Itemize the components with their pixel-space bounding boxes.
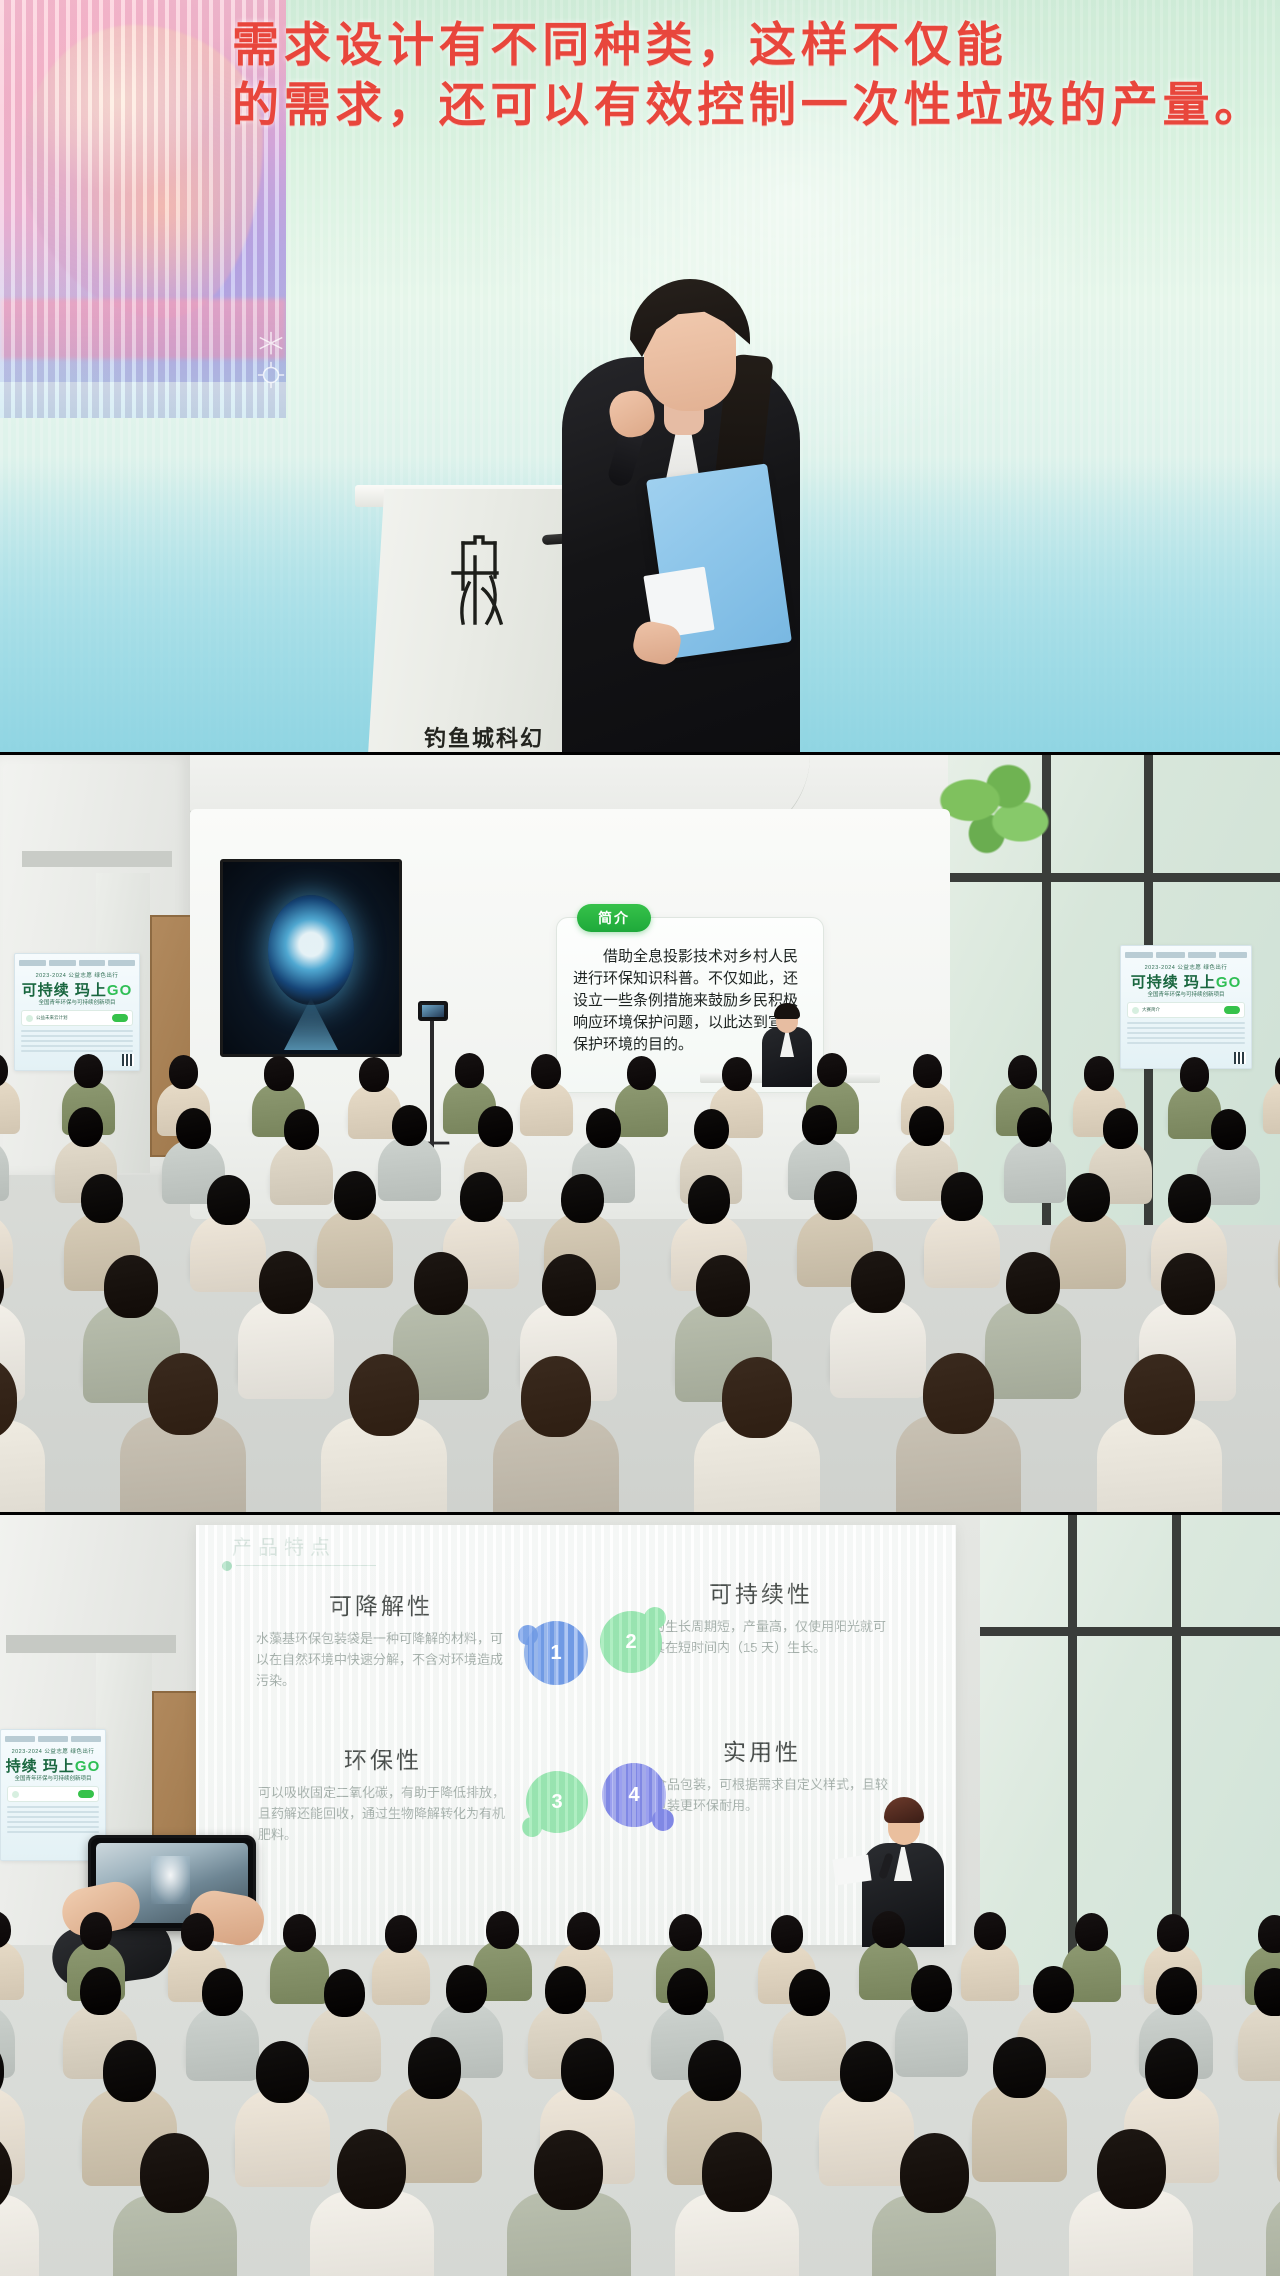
audience-member <box>1080 2129 1182 2276</box>
audience-head <box>851 1251 905 1313</box>
audience-head <box>722 1357 792 1438</box>
wall-slot <box>22 851 172 867</box>
audience-head <box>545 1966 586 2014</box>
audience-head <box>909 1106 944 1146</box>
bubble-satellite <box>522 1817 542 1837</box>
poster-kicker: 2023-2024 公益志愿 绿色出行 <box>15 971 139 979</box>
screen-headline-line-1: 需求设计有不同种类，这样不仅能 <box>232 6 1008 75</box>
audience-head <box>1008 1055 1038 1089</box>
audience-head <box>669 1914 702 1952</box>
audience-head <box>941 1172 984 1221</box>
phone-screen <box>422 1005 444 1017</box>
feature-body: 用于食品包装，可根据需求自定义样式，且较塑料包装更环保耐用。 <box>628 1774 896 1816</box>
bubble-number: 3 <box>551 1791 562 1814</box>
audience-head <box>446 1965 487 2013</box>
feature-body: 水藻的生长周期短，产量高，仅使用阳光就可以使其在短时间内（15 天）生长。 <box>626 1616 896 1658</box>
audience-head <box>385 1915 418 1953</box>
audience-head <box>140 2133 209 2213</box>
feature-title: 可持续性 <box>626 1575 896 1609</box>
audience-member <box>980 2037 1058 2163</box>
poster-title-accent: GO <box>75 1758 100 1775</box>
poster-logo <box>19 960 46 966</box>
audience-head <box>80 1967 121 2015</box>
poster-title-main: 可持续 玛上 <box>1131 974 1216 991</box>
poster-card-icon <box>26 1015 33 1022</box>
audience-member <box>321 2129 423 2276</box>
audience-head <box>0 1911 11 1949</box>
audience-head <box>696 1255 750 1317</box>
audience-head <box>586 1108 621 1148</box>
bubble-satellite <box>652 1809 674 1831</box>
audience-head <box>337 2129 406 2209</box>
audience-head <box>486 1911 519 1949</box>
slide-ghost-title: 产品特点 <box>232 1531 336 1560</box>
audience-head <box>1145 2038 1198 2100</box>
audience-member <box>518 2130 620 2276</box>
slide-badge: 简介 <box>577 904 651 932</box>
audience-member <box>324 1171 387 1272</box>
feature-title: 环保性 <box>258 1741 508 1775</box>
inset-band <box>0 299 286 359</box>
audience-head <box>900 2133 969 2213</box>
foliage <box>934 761 1054 859</box>
audience-head <box>531 1054 561 1088</box>
audience-head <box>1168 1174 1211 1223</box>
audience-head <box>817 1053 847 1087</box>
audience-member <box>1268 1053 1280 1123</box>
audience-head <box>1067 1173 1110 1222</box>
audience-head <box>283 1914 316 1952</box>
audience-head <box>872 1911 905 1949</box>
poster-card: 公益未来云计划 <box>21 1010 133 1026</box>
audience-head <box>1211 1109 1246 1149</box>
audience-member <box>0 1357 34 1515</box>
feature-bubble-2: 2 <box>600 1611 662 1673</box>
poster-logo <box>108 960 135 966</box>
audience-head <box>80 1912 113 1950</box>
poster-title: 持续 玛上GO <box>1 1755 105 1776</box>
audience-head <box>1006 1252 1060 1314</box>
feature-bubble-1: 1 <box>524 1621 588 1685</box>
audience-head <box>478 1106 513 1146</box>
poster-card-text: 大赛简介 <box>1142 1007 1221 1013</box>
audience-head <box>567 1912 600 1950</box>
audience-member <box>384 1105 436 1188</box>
poster-logo <box>1188 952 1216 958</box>
audience-shoulders <box>961 1941 1019 2001</box>
audience-member <box>243 2041 321 2167</box>
poster-toggle <box>78 1790 94 1798</box>
audience-head <box>627 1056 657 1090</box>
audience-head <box>1124 1354 1194 1435</box>
audience-head <box>359 1057 389 1091</box>
poster-logo-row <box>5 1734 101 1743</box>
audience-head <box>103 2040 156 2102</box>
audience-head <box>349 1354 419 1435</box>
audience-head <box>324 1969 365 2017</box>
panel-speaker-at-podium: 需求设计有不同种类，这样不仅能 的需求，还可以有效控制一次性垃圾的产量。 钓鱼城… <box>0 0 1280 755</box>
audience-head <box>688 1175 731 1224</box>
poster-logo <box>1125 952 1153 958</box>
audience-member <box>1244 1968 1280 2065</box>
bubble-satellite <box>644 1607 666 1629</box>
bubble-number: 2 <box>625 1631 636 1654</box>
audience-head <box>169 1055 199 1089</box>
audience-head <box>1084 1056 1114 1090</box>
feature-block-4: 实用性 用于食品包装，可根据需求自定义样式，且较塑料包装更环保耐用。 <box>628 1733 896 1816</box>
poster-subtitle: 全国青年环保与可持续创新项目 <box>1121 990 1251 998</box>
audience-shoulders <box>378 1136 441 1200</box>
audience-member <box>314 1969 374 2066</box>
stage-presenter <box>758 1001 816 1087</box>
screen-headline-line-2: 的需求，还可以有效控制一次性垃圾的产量。 <box>232 66 1266 135</box>
audience-head <box>694 1109 729 1149</box>
audience-head <box>264 1056 294 1090</box>
poster-kicker: 2023-2024 公益志愿 绿色出行 <box>1121 963 1251 971</box>
audience-head <box>207 1175 250 1224</box>
audience-member <box>276 1109 328 1192</box>
poster-logo <box>79 960 106 966</box>
speaker-female <box>552 165 812 755</box>
audience-head <box>1033 1966 1074 2014</box>
podium-logo-text: 钓鱼城科幻 <box>424 721 544 753</box>
slide-rule <box>236 1565 376 1566</box>
poster-subtitle: 全国青年环保与可持续创新项目 <box>1 1774 105 1782</box>
window-transom <box>948 873 1280 882</box>
audience-head <box>202 1968 243 2016</box>
audience-head <box>993 2037 1046 2099</box>
audience-head <box>1161 1253 1215 1315</box>
poster-kicker: 2023-2024 公益志愿 绿色出行 <box>1 1747 105 1755</box>
audience-head <box>74 1054 104 1088</box>
bubble-satellite <box>518 1625 538 1645</box>
poster-card-icon <box>12 1791 19 1798</box>
audience-head <box>840 2041 893 2103</box>
audience-member <box>332 1354 436 1515</box>
audience-head <box>771 1915 804 1953</box>
audience-head <box>259 1251 313 1313</box>
audience-head <box>561 1174 604 1223</box>
window-transom <box>980 1627 1280 1636</box>
audience-member <box>246 1251 326 1379</box>
bubble-number: 1 <box>550 1642 561 1665</box>
led-display <box>220 859 402 1057</box>
audience-head <box>392 1105 427 1145</box>
audience-member <box>524 1054 568 1124</box>
hologram-globe <box>268 895 354 1005</box>
audience-head <box>974 1912 1007 1950</box>
audience-head <box>814 1171 857 1220</box>
poster-title: 可持续 玛上GO <box>15 979 139 1000</box>
poster-card-text: 公益未来云计划 <box>36 1015 109 1021</box>
audience-head <box>789 1969 830 2017</box>
feature-block-3: 环保性 可以吸收固定二氧化碳，有助于降低排放，且药解还能回收，通过生物降解转化为… <box>258 1741 508 1845</box>
audience-head <box>722 1057 752 1091</box>
audience-head <box>802 1105 837 1145</box>
audience-head <box>408 2037 461 2099</box>
audience-shoulders <box>895 2001 968 2077</box>
snowflake-icon <box>252 330 290 390</box>
audience-member <box>706 1357 810 1515</box>
audience-member <box>504 1356 608 1515</box>
poster-title-accent: GO <box>107 982 132 999</box>
feature-block-2: 可持续性 水藻的生长周期短，产量高，仅使用阳光就可以使其在短时间内（15 天）生… <box>626 1575 896 1658</box>
city-logo-icon <box>447 533 521 631</box>
audience-head <box>181 1913 214 1951</box>
poster-subtitle: 全国青年环保与可持续创新项目 <box>15 998 139 1006</box>
audience-member <box>124 2133 226 2276</box>
photo-collage: 需求设计有不同种类，这样不仅能 的需求，还可以有效控制一次性垃圾的产量。 钓鱼城… <box>0 0 1280 2276</box>
audience-head <box>1180 1057 1210 1091</box>
wall-slot <box>6 1635 176 1653</box>
recording-phone <box>418 1001 448 1021</box>
audience-head <box>667 1968 708 2016</box>
audience-member <box>966 1912 1014 1989</box>
poster-logo <box>5 1736 35 1742</box>
poster-title: 可持续 玛上GO <box>1121 971 1251 992</box>
poster-logo-row <box>1125 950 1247 959</box>
poster-logo <box>71 1736 101 1742</box>
poster-toggle <box>1224 1006 1240 1014</box>
audience-head <box>534 2130 603 2210</box>
poster-title-accent: GO <box>1216 974 1241 991</box>
poster-logo-row <box>19 958 135 967</box>
poster-body-lines <box>1127 1022 1245 1047</box>
audience-member <box>931 1172 994 1273</box>
feature-title: 可降解性 <box>256 1587 506 1621</box>
poster-card <box>7 1786 99 1802</box>
audience-head <box>104 1255 158 1317</box>
panel-audience-feature-slide: 产品特点 可降解性 水藻基环保包装袋是一种可降解的材料，可以在自然环境中快速分解… <box>0 1515 1280 2276</box>
audience-shoulders <box>317 1209 393 1287</box>
audience-head <box>1157 1914 1190 1952</box>
audience-head <box>1075 1913 1108 1951</box>
audience-member <box>0 2132 29 2276</box>
poster-title-main: 可持续 玛上 <box>22 982 107 999</box>
audience-head <box>81 1174 124 1223</box>
audience-head <box>911 1965 952 2013</box>
audience-head <box>561 2038 614 2100</box>
audience-head <box>702 2132 771 2212</box>
audience-head <box>1103 1108 1138 1148</box>
presenter-notes <box>832 1855 871 1886</box>
audience-head <box>68 1107 103 1147</box>
audience-head <box>284 1109 319 1149</box>
audience-head <box>148 1353 218 1434</box>
poster-right: 2023-2024 公益志愿 绿色出行 可持续 玛上GO 全国青年环保与可持续创… <box>1120 945 1252 1069</box>
slide-bullet-icon <box>222 1561 232 1571</box>
inset-figure <box>23 25 263 318</box>
presenter-hair <box>884 1797 924 1823</box>
audience-member <box>901 1965 961 2062</box>
audience-member <box>377 1915 425 1992</box>
audience-head <box>1254 1968 1280 2016</box>
audience-shoulders <box>238 1299 335 1398</box>
poster-card-icon <box>1132 1007 1139 1014</box>
audience-head <box>688 2040 741 2102</box>
feature-bubble-3: 3 <box>526 1771 588 1833</box>
audience-head <box>455 1053 485 1087</box>
poster-logo <box>38 1736 68 1742</box>
audience-head <box>1258 1915 1280 1953</box>
audience-head <box>334 1171 377 1220</box>
audience-member <box>686 2132 788 2276</box>
audience-head <box>913 1054 943 1088</box>
audience-head <box>923 1353 993 1434</box>
inset-strip <box>0 382 286 418</box>
feature-body: 水藻基环保包装袋是一种可降解的材料，可以在自然环境中快速分解，不含对环境造成污染… <box>256 1628 506 1691</box>
poster-body-lines <box>21 1030 133 1055</box>
poster-toggle <box>112 1014 128 1022</box>
audience-head <box>1097 2129 1166 2209</box>
audience-shoulders <box>235 2089 330 2187</box>
audience-head <box>256 2041 309 2103</box>
audience-member <box>1108 1354 1212 1515</box>
audience-head <box>176 1108 211 1148</box>
poster-logo <box>1219 952 1247 958</box>
presenter-hair <box>774 1003 800 1019</box>
audience-member <box>907 1353 1011 1515</box>
poster-card: 大赛简介 <box>1127 1002 1245 1018</box>
bubble-number: 4 <box>628 1784 639 1807</box>
audience-head <box>1156 1967 1197 2015</box>
panel-audience-wide: 简介 借助全息投影技术对乡村人民进行环保知识科普。不仅如此，还设立一些条例措施来… <box>0 755 1280 1515</box>
audience-member <box>883 2133 985 2276</box>
poster-title-main: 持续 玛上 <box>6 1758 75 1775</box>
audience-shoulders <box>372 1945 430 2005</box>
screen-headline: 需求设计有不同种类，这样不仅能 的需求，还可以有效控制一次性垃圾的产量。 <box>232 0 1280 116</box>
audience-shoulders <box>520 1081 573 1136</box>
audience-shoulders <box>1238 2005 1280 2081</box>
poster-logo <box>1156 952 1184 958</box>
feature-block-1: 可降解性 水藻基环保包装袋是一种可降解的材料，可以在自然环境中快速分解，不含对环… <box>256 1587 506 1691</box>
feature-bubble-4: 4 <box>602 1763 666 1827</box>
audience-head <box>414 1252 468 1314</box>
audience-member <box>1009 1107 1061 1190</box>
hologram-cone <box>284 998 338 1050</box>
audience-shoulders <box>924 1210 1000 1288</box>
audience-head <box>460 1172 503 1221</box>
qr-code-icon <box>122 1054 134 1066</box>
audience-head <box>521 1356 591 1437</box>
feature-title: 实用性 <box>628 1733 896 1767</box>
audience-shoulders <box>972 2084 1067 2182</box>
window-wall <box>980 1515 1280 1985</box>
audience-head <box>542 1254 596 1316</box>
audience-member <box>131 1353 235 1515</box>
audience-head <box>1017 1107 1052 1147</box>
qr-code-icon <box>1234 1052 1246 1064</box>
poster-logo <box>49 960 76 966</box>
feature-body: 可以吸收固定二氧化碳，有助于降低排放，且药解还能回收，通过生物降解转化为有机肥料… <box>258 1782 508 1845</box>
